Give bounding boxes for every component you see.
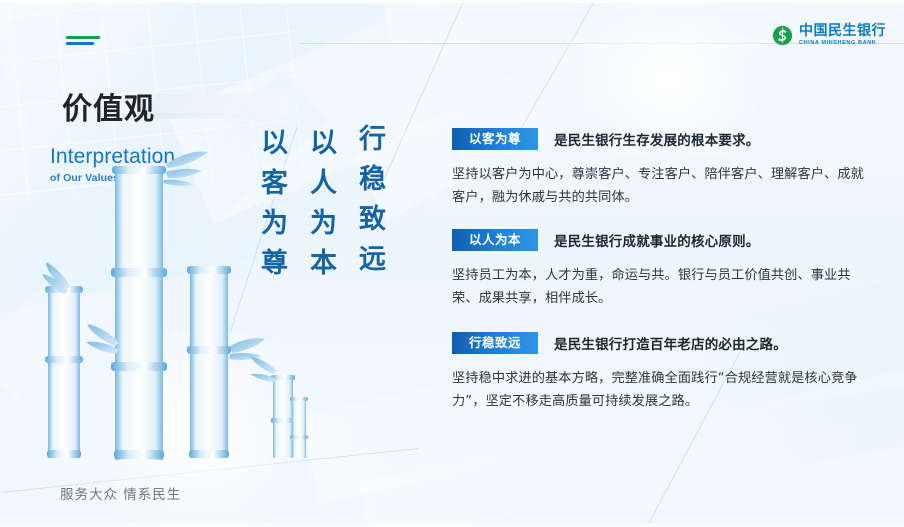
bamboo-stalk-tiny	[290, 397, 308, 458]
page-title: 价值观	[62, 84, 155, 128]
logo-text: 中国民生银行 CHINA MINSHENG BANK	[799, 24, 886, 46]
values-content: 以客为尊 是民生银行生存发展的根本要求。 坚持以客户为中心，尊崇客户、专注客户、…	[452, 128, 876, 414]
mark-bar-blue	[66, 42, 94, 45]
minsheng-bank-s-logo-icon	[772, 25, 793, 46]
top-edge-strip	[0, 0, 904, 3]
value-badge-2: 以人为本	[452, 229, 538, 251]
value-headline-1: 是民生银行生存发展的根本要求。	[554, 129, 760, 149]
value-body-2: 坚持员工为本，人才为重，命运与共。银行与员工价值共创、事业共荣、成果共享，相伴成…	[452, 264, 872, 310]
background-diagonal-line	[515, 0, 606, 138]
value-badge-3: 行稳致远	[452, 332, 538, 354]
value-block-1: 以客为尊 是民生银行生存发展的根本要求。 坚持以客户为中心，尊崇客户、专注客户、…	[452, 128, 876, 209]
value-block-3: 行稳致远 是民生银行打造百年老店的必由之路。 坚持稳中求进的基本方略，完整准确全…	[452, 332, 876, 413]
bamboo-stalk-right	[187, 266, 231, 458]
title-banner-shape-secondary	[134, 113, 282, 119]
calligraphy-column-2: 以人为本	[307, 128, 334, 288]
value-body-1: 坚持以客户为中心，尊崇客户、专注客户、陪伴客户、理解客户、成就客户，融为休戚与共…	[452, 163, 872, 209]
value-block-1-header: 以客为尊 是民生银行生存发展的根本要求。	[452, 128, 876, 150]
bamboo-stalk-small-right	[271, 375, 295, 458]
value-body-3: 坚持稳中求进的基本方略，完整准确全面践行“合规经营就是核心竞争力”，坚定不移走高…	[452, 367, 872, 413]
slide-root: 中国民生银行 CHINA MINSHENG BANK 价值观 Interpret…	[0, 0, 904, 527]
bank-logo: 中国民生银行 CHINA MINSHENG BANK	[772, 24, 886, 46]
value-block-3-header: 行稳致远 是民生银行打造百年老店的必由之路。	[452, 332, 876, 354]
value-headline-3: 是民生银行打造百年老店的必由之路。	[554, 333, 787, 353]
logo-name-en: CHINA MINSHENG BANK	[799, 41, 886, 47]
calligraphy-column-3: 行稳致远	[356, 124, 383, 288]
calligraphy-column-1: 以客为尊	[258, 128, 285, 288]
bamboo-stalk-tall	[111, 166, 167, 460]
logo-name-cn: 中国民生银行	[799, 24, 886, 38]
footer-slogan: 服务大众 情系民生	[60, 483, 181, 503]
double-bar-mark-icon	[66, 36, 100, 45]
value-block-2-header: 以人为本 是民生银行成就事业的核心原则。	[452, 229, 876, 251]
bottom-edge-strip	[0, 523, 904, 527]
mark-bar-green	[66, 36, 100, 39]
bamboo-stalk-left	[45, 286, 83, 458]
value-headline-2: 是民生银行成就事业的核心原则。	[554, 230, 760, 250]
value-block-2: 以人为本 是民生银行成就事业的核心原则。 坚持员工为本，人才为重，命运与共。银行…	[452, 229, 876, 310]
value-badge-1: 以客为尊	[452, 128, 538, 150]
vertical-calligraphy-group: 以客为尊 以人为本 行稳致远	[258, 128, 383, 288]
